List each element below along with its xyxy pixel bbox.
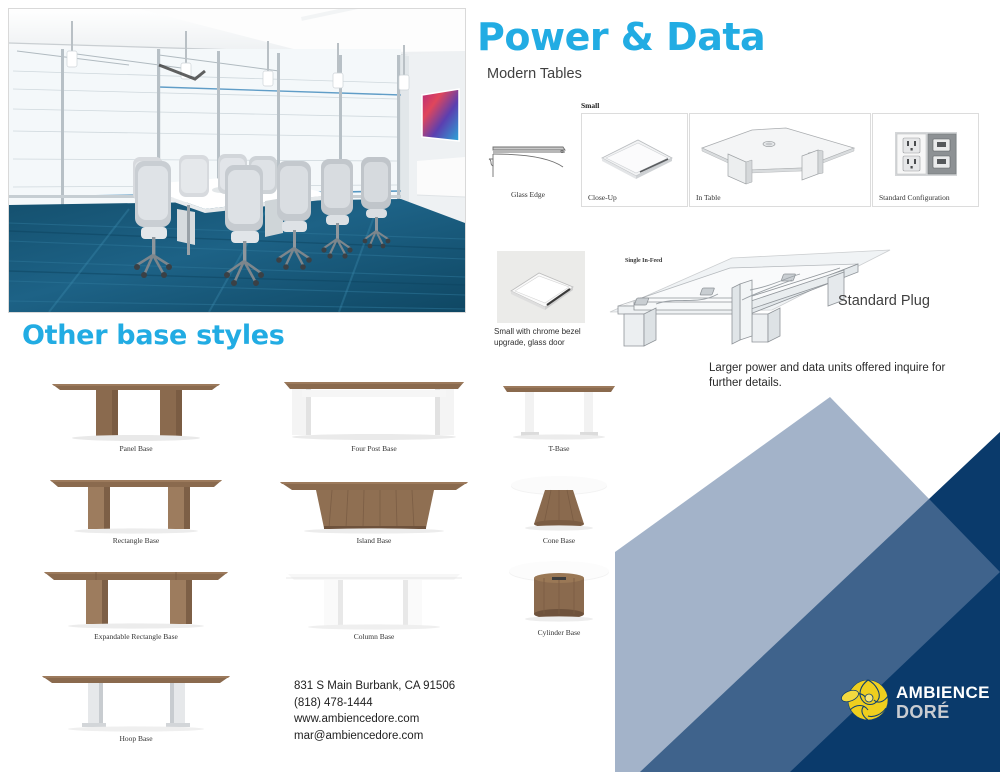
base-item-cylinder-base: Cylinder Base — [504, 556, 614, 637]
brochure-page: Power & Data Modern Tables Other base st… — [0, 0, 1000, 772]
cell-label-standard-configuration: Standard Configuration — [879, 193, 950, 202]
expandable-rectangle-base-table — [36, 560, 236, 630]
section-title-other-base-styles: Other base styles — [22, 320, 285, 351]
base-item-rectangle-base: Rectangle Base — [36, 468, 236, 545]
base-label-cylinder-base: Cylinder Base — [504, 628, 614, 637]
column-base-table — [274, 560, 474, 630]
conference-room-illustration — [9, 9, 465, 312]
cone-base-table — [504, 468, 614, 534]
contact-address: 831 S Main Burbank, CA 91506 — [294, 678, 455, 695]
figure-cell-in-table: In Table — [689, 113, 871, 207]
four-post-base-table — [274, 370, 474, 442]
contact-email[interactable]: mar@ambiencedore.com — [294, 728, 455, 745]
hoop-base-table — [36, 662, 236, 732]
base-label-expandable-rectangle-base: Expandable Rectangle Base — [36, 632, 236, 641]
base-item-column-base: Column Base — [274, 560, 474, 641]
cylinder-base-table — [504, 556, 614, 626]
base-item-island-base: Island Base — [274, 468, 474, 545]
base-label-t-base: T-Base — [489, 444, 629, 453]
rectangle-base-table — [36, 468, 236, 534]
contact-block: 831 S Main Burbank, CA 91506 (818) 478-1… — [294, 678, 455, 744]
base-item-cone-base: Cone Base — [504, 468, 614, 545]
base-label-rectangle-base: Rectangle Base — [36, 536, 236, 545]
base-label-four-post-base: Four Post Base — [274, 444, 474, 453]
base-label-panel-base: Panel Base — [36, 444, 236, 453]
base-item-panel-base: Panel Base — [36, 370, 236, 453]
base-item-t-base: T-Base — [489, 370, 629, 453]
contact-phone[interactable]: (818) 478-1444 — [294, 695, 455, 712]
base-item-four-post-base: Four Post Base — [274, 370, 474, 453]
base-item-hoop-base: Hoop Base — [36, 662, 236, 743]
cell-label-in-table: In Table — [696, 193, 721, 202]
rosette-mark — [840, 680, 888, 720]
glass-edge-profile-diagram — [483, 133, 573, 189]
ambience-dore-rosette-logo: AMBIENCE DORÉ — [836, 672, 996, 728]
logo-text-line1: AMBIENCE — [896, 683, 990, 702]
figure-cell-close-up: Close-Up — [581, 113, 688, 207]
logo-text-line2: DORÉ — [896, 701, 950, 722]
base-label-column-base: Column Base — [274, 632, 474, 641]
island-base-table — [274, 468, 474, 534]
in-table-conference-table-render — [690, 118, 870, 190]
t-base-table — [489, 370, 629, 442]
base-label-hoop-base: Hoop Base — [36, 734, 236, 743]
cell-label-close-up: Close-Up — [588, 193, 617, 202]
standard-plug-label: Standard Plug — [838, 293, 930, 309]
glass-edge-label: Glass Edge — [483, 190, 573, 199]
section-subtitle-modern-tables: Modern Tables — [487, 66, 582, 82]
chrome-bezel-photo — [497, 251, 585, 323]
close-up-power-module-render — [582, 118, 687, 190]
base-label-island-base: Island Base — [274, 536, 474, 545]
conference-room-photo — [8, 8, 466, 313]
contact-website[interactable]: www.ambiencedore.com — [294, 711, 455, 728]
single-in-feed-label: Single In-Feed — [625, 258, 662, 264]
power-data-outlet-panel — [873, 118, 978, 190]
figure-cell-standard-configuration: Standard Configuration — [872, 113, 979, 207]
glass-edge-figure: Glass Edge — [483, 133, 573, 203]
base-label-cone-base: Cone Base — [504, 536, 614, 545]
larger-units-note: Larger power and data units offered inqu… — [709, 361, 971, 391]
bezel-caption: Small with chrome bezel upgrade, glass d… — [494, 326, 604, 348]
panel-base-table — [36, 370, 236, 442]
page-title: Power & Data — [477, 15, 765, 59]
base-item-expandable-rectangle-base: Expandable Rectangle Base — [36, 560, 236, 641]
group-header-small: Small — [581, 101, 599, 110]
